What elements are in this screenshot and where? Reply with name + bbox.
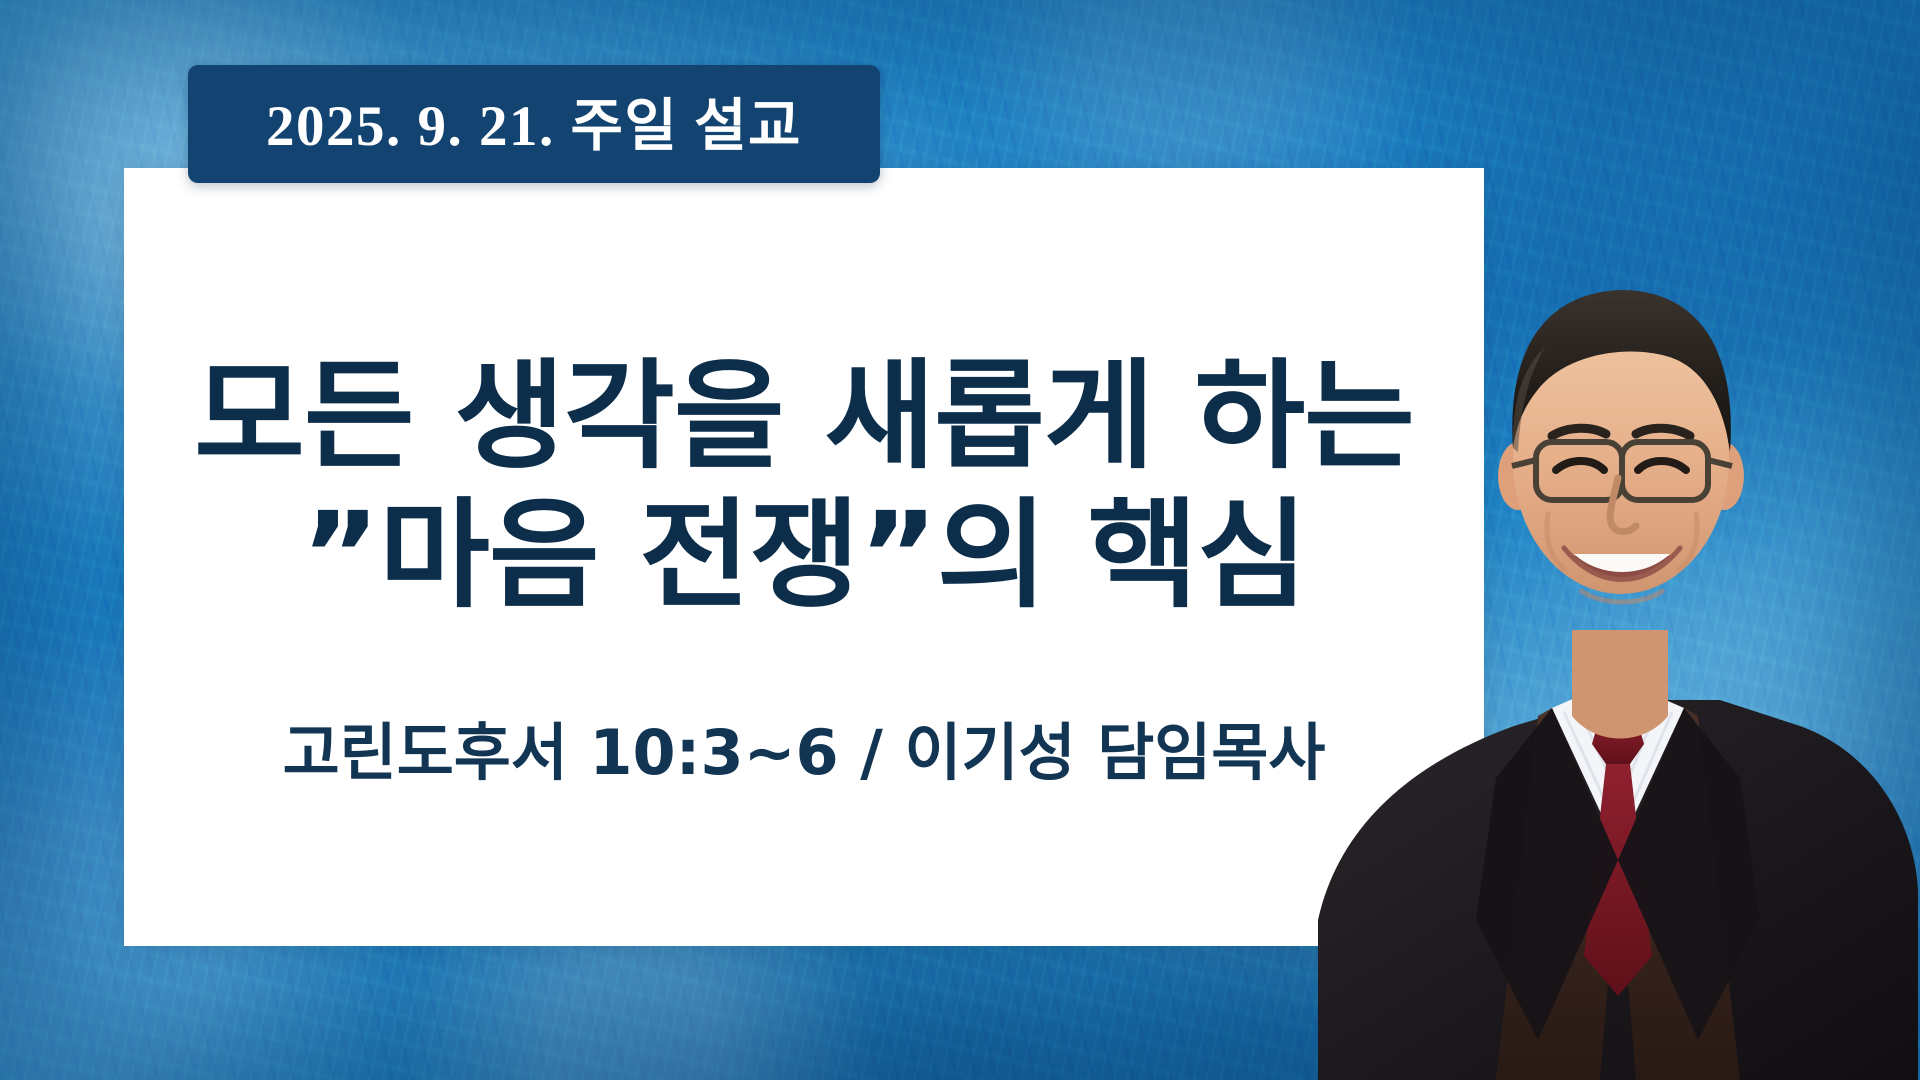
sermon-thumbnail: 2025. 9. 21. 주일 설교 모든 생각을 새롭게 하는 ”마음 전쟁”… [0,0,1920,1080]
date-badge-label: 2025. 9. 21. 주일 설교 [236,80,832,168]
sermon-text-block: 모든 생각을 새롭게 하는 ”마음 전쟁”의 핵심 고린도후서 10:3~6 /… [124,168,1484,946]
sermon-title-line-2: ”마음 전쟁”의 핵심 [110,487,1497,624]
sermon-title-line-1: 모든 생각을 새롭게 하는 [110,348,1497,485]
sermon-subtitle: 고린도후서 10:3~6 / 이기성 담임목사 [124,702,1484,792]
preacher-photo [1300,160,1920,1080]
date-badge: 2025. 9. 21. 주일 설교 [188,65,880,183]
neck-shape [1572,630,1668,739]
preacher-portrait-illustration [1300,160,1920,1080]
